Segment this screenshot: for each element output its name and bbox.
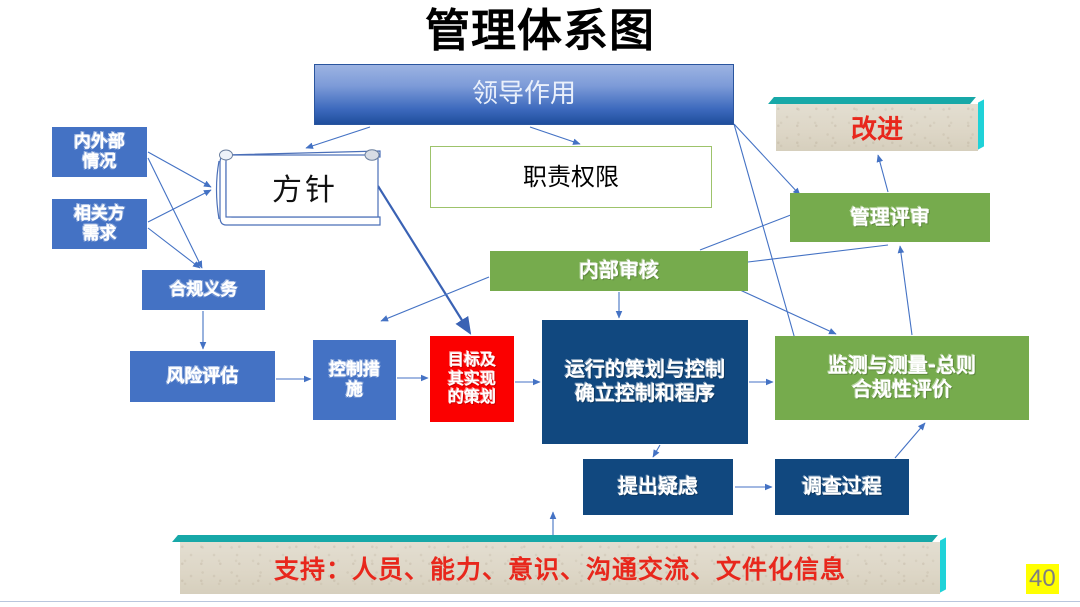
node-policy[interactable]: 方针 <box>212 147 384 230</box>
node-operational-planning-control[interactable]: 运行的策划与控制 确立控制和程序 <box>542 320 748 444</box>
node-duty-authority[interactable]: 职责权限 <box>430 146 712 208</box>
slide-canvas: 管理体系图 <box>0 0 1080 607</box>
node-policy-label: 方针 <box>212 147 384 227</box>
page-number-badge: 40 <box>1026 564 1059 594</box>
node-compliance-obligations[interactable]: 合规义务 <box>142 270 265 310</box>
node-investigation-process[interactable]: 调查过程 <box>775 459 909 515</box>
node-monitoring-measurement[interactable]: 监测与测量-总则 合规性评价 <box>775 336 1029 420</box>
node-control-measures[interactable]: 控制措 施 <box>313 340 396 420</box>
node-support-banner[interactable]: 支持：人员、能力、意识、沟通交流、文件化信息 <box>180 542 940 594</box>
bottom-divider <box>0 601 1080 602</box>
node-improvement[interactable]: 改进 <box>776 104 978 151</box>
node-leadership[interactable]: 领导作用 <box>314 64 734 125</box>
node-raise-concern[interactable]: 提出疑虑 <box>583 459 733 515</box>
node-stakeholder-needs[interactable]: 相关方 需求 <box>52 199 147 249</box>
node-management-review[interactable]: 管理评审 <box>790 193 990 242</box>
node-internal-audit[interactable]: 内部审核 <box>490 251 748 291</box>
node-risk-assessment[interactable]: 风险评估 <box>130 351 275 402</box>
node-internal-external-context[interactable]: 内外部 情况 <box>52 127 147 177</box>
node-objectives-planning[interactable]: 目标及 其实现 的策划 <box>430 336 514 422</box>
